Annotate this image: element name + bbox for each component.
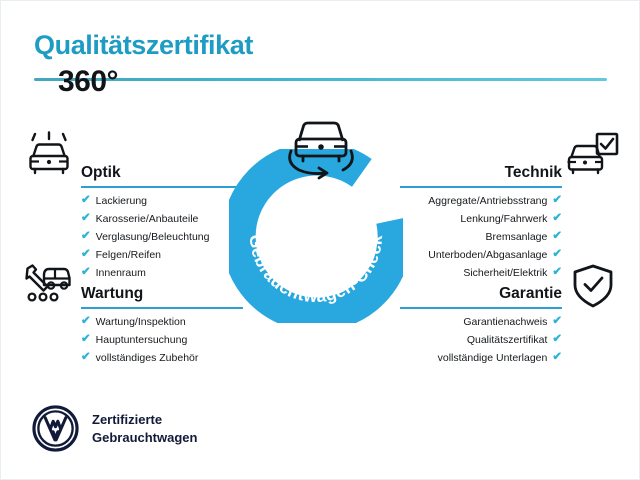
page-title: Qualitätszertifikat <box>34 31 608 61</box>
footer: Zertifizierte Gebrauchtwagen <box>32 405 197 452</box>
list-item-label: Wartung/Inspektion <box>96 317 186 328</box>
check-icon: ✔ <box>552 249 562 261</box>
car-lift-wrench-icon <box>21 259 73 305</box>
list-item: ✔ Karosserie/Anbauteile <box>81 213 243 225</box>
footer-text: Zertifizierte Gebrauchtwagen <box>92 411 197 446</box>
list-item: Garantienachweis ✔ <box>400 316 562 328</box>
list-item-label: Felgen/Reifen <box>96 250 161 261</box>
check-icon: ✔ <box>81 231 91 243</box>
check-icon: ✔ <box>81 213 91 225</box>
section-optik-divider <box>81 186 243 188</box>
list-item-label: Verglasung/Beleuchtung <box>96 232 210 243</box>
list-item-label: Bremsanlage <box>485 232 547 243</box>
check-icon: ✔ <box>81 334 91 346</box>
check-icon: ✔ <box>81 249 91 261</box>
list-item: ✔ Wartung/Inspektion <box>81 316 243 328</box>
check-icon: ✔ <box>81 316 91 328</box>
check-icon: ✔ <box>552 231 562 243</box>
list-item-label: vollständige Unterlagen <box>438 353 548 364</box>
certificate-page: Qualitätszertifikat Optik ✔ <box>0 0 640 480</box>
list-item-label: Lackierung <box>96 196 147 207</box>
list-item: Aggregate/Antriebsstrang ✔ <box>400 195 562 207</box>
volkswagen-logo <box>32 405 79 452</box>
check-icon: ✔ <box>81 352 91 364</box>
check-icon: ✔ <box>552 195 562 207</box>
list-item: Unterboden/Abgasanlage ✔ <box>400 249 562 261</box>
list-item: ✔ vollständiges Zubehör <box>81 352 243 364</box>
check-icon: ✔ <box>552 352 562 364</box>
list-item: Qualitätszertifikat ✔ <box>400 334 562 346</box>
shield-check-icon <box>571 263 615 309</box>
section-garantie-header: Garantie <box>400 263 562 301</box>
list-item-label: Hauptuntersuchung <box>96 335 188 346</box>
check-icon: ✔ <box>552 213 562 225</box>
list-item: vollständige Unterlagen ✔ <box>400 352 562 364</box>
section-wartung-title: Wartung <box>81 286 143 302</box>
car-checkbox-icon <box>567 131 619 177</box>
section-optik-header: Optik <box>81 142 243 180</box>
car-sparkle-icon <box>23 131 75 177</box>
list-item: Lenkung/Fahrwerk ✔ <box>400 213 562 225</box>
list-item: ✔ Felgen/Reifen <box>81 249 243 261</box>
list-item: ✔ Verglasung/Beleuchtung <box>81 231 243 243</box>
list-item: Bremsanlage ✔ <box>400 231 562 243</box>
section-garantie-list: Garantienachweis ✔ Qualitätszertifikat ✔… <box>400 316 562 364</box>
header: Qualitätszertifikat <box>34 31 608 81</box>
list-item-label: Karosserie/Anbauteile <box>96 214 199 225</box>
list-item-label: Aggregate/Antriebsstrang <box>428 196 547 207</box>
list-item: ✔ Lackierung <box>81 195 243 207</box>
section-optik-title: Optik <box>81 165 121 181</box>
check-icon: ✔ <box>81 195 91 207</box>
list-item: ✔ Hauptuntersuchung <box>81 334 243 346</box>
section-garantie-title: Garantie <box>499 286 562 302</box>
section-wartung-list: ✔ Wartung/Inspektion ✔ Hauptuntersuchung… <box>81 316 243 364</box>
list-item-label: vollständiges Zubehör <box>96 353 199 364</box>
list-item-label: Lenkung/Fahrwerk <box>460 214 547 225</box>
section-wartung-divider <box>81 307 243 309</box>
list-item-label: Unterboden/Abgasanlage <box>428 250 547 261</box>
car-front-rotate-icon <box>273 113 369 183</box>
section-technik-divider <box>400 186 562 188</box>
title-divider <box>34 78 607 81</box>
section-garantie: Garantie Garantienachweis ✔ Qualitätszer… <box>400 263 562 370</box>
section-technik-title: Technik <box>505 165 562 181</box>
check-icon: ✔ <box>552 334 562 346</box>
section-technik-header: Technik <box>400 142 562 180</box>
check-icon: ✔ <box>552 316 562 328</box>
footer-line-1: Zertifizierte <box>92 411 197 429</box>
section-wartung-header: Wartung <box>81 263 243 301</box>
section-garantie-divider <box>400 307 562 309</box>
list-item-label: Qualitätszertifikat <box>467 335 548 346</box>
list-item-label: Garantienachweis <box>463 317 547 328</box>
section-wartung: Wartung ✔ Wartung/Inspektion ✔ Hauptunte… <box>81 263 243 370</box>
footer-line-2: Gebrauchtwagen <box>92 429 197 447</box>
